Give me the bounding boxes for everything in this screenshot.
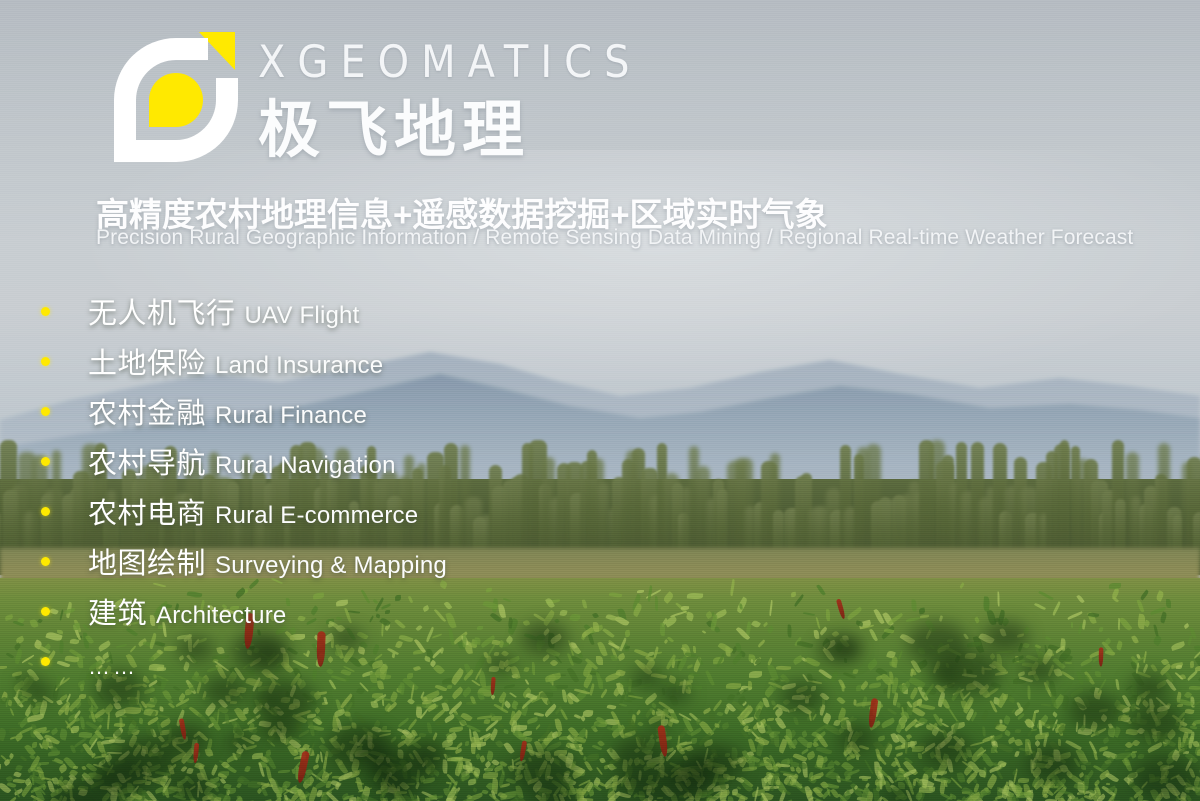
service-label-cn: 地图绘制 <box>88 540 206 582</box>
service-label-cn: 农村导航 <box>88 440 206 482</box>
service-label-group: 农村金融Rural Finance <box>88 390 367 432</box>
bullet-dot-icon <box>41 557 50 566</box>
brand-logo-block: XGEOMATICS 极飞地理 <box>104 28 641 173</box>
service-label-cn: 无人机飞行 <box>88 290 236 332</box>
service-label-group: 农村导航Rural Navigation <box>88 440 396 482</box>
service-label-group: 建筑Architecture <box>88 590 286 632</box>
service-list-item: 地图绘制Surveying & Mapping <box>32 536 652 586</box>
service-label-group: 土地保险Land Insurance <box>88 340 383 382</box>
bullet-dot-icon <box>41 307 50 316</box>
service-label-cn: 农村电商 <box>88 490 206 532</box>
service-list-item: 土地保险Land Insurance <box>32 336 652 386</box>
slide-content: XGEOMATICS 极飞地理 高精度农村地理信息+遥感数据挖掘+区域实时气象 … <box>0 0 1200 801</box>
service-list-item: 农村电商Rural E-commerce <box>32 486 652 536</box>
service-label-en: Surveying & Mapping <box>215 552 447 580</box>
service-label-en: Land Insurance <box>215 352 383 380</box>
tagline-english: Precision Rural Geographic Information /… <box>96 226 1133 250</box>
service-list-item: 建筑Architecture <box>32 586 652 636</box>
brand-wordmark-group: XGEOMATICS 极飞地理 <box>258 28 641 162</box>
service-list-item: 农村导航Rural Navigation <box>32 436 652 486</box>
presentation-slide: XGEOMATICS 极飞地理 高精度农村地理信息+遥感数据挖掘+区域实时气象 … <box>0 0 1200 801</box>
bullet-dot-icon <box>41 607 50 616</box>
bullet-dot-icon <box>41 407 50 416</box>
bullet-dot-icon <box>41 357 50 366</box>
service-list-item: 农村金融Rural Finance <box>32 386 652 436</box>
service-label-en: Rural Navigation <box>215 452 396 480</box>
service-ellipsis: …… <box>88 654 138 680</box>
service-label-cn: 农村金融 <box>88 390 206 432</box>
xgeomatics-leaf-logo-icon <box>104 28 240 173</box>
bullet-dot-icon <box>41 507 50 516</box>
service-label-cn: 土地保险 <box>88 340 206 382</box>
service-label-group: 无人机飞行UAV Flight <box>88 290 359 332</box>
bullet-dot-icon <box>41 457 50 466</box>
brand-cn-name: 极飞地理 <box>258 100 641 162</box>
service-list-item: …… <box>32 636 652 686</box>
service-label-en: UAV Flight <box>245 302 360 330</box>
service-list: 无人机飞行UAV Flight土地保险Land Insurance农村金融Rur… <box>32 286 652 686</box>
service-label-group: 地图绘制Surveying & Mapping <box>88 540 447 582</box>
service-label-en: Rural Finance <box>215 402 367 430</box>
service-label-group: …… <box>88 648 138 674</box>
service-label-en: Rural E-commerce <box>215 502 418 530</box>
service-list-item: 无人机飞行UAV Flight <box>32 286 652 336</box>
brand-wordmark: XGEOMATICS <box>258 40 641 85</box>
service-label-group: 农村电商Rural E-commerce <box>88 490 418 532</box>
service-label-en: Architecture <box>156 602 286 630</box>
bullet-dot-icon <box>41 657 50 666</box>
service-label-cn: 建筑 <box>88 590 147 632</box>
